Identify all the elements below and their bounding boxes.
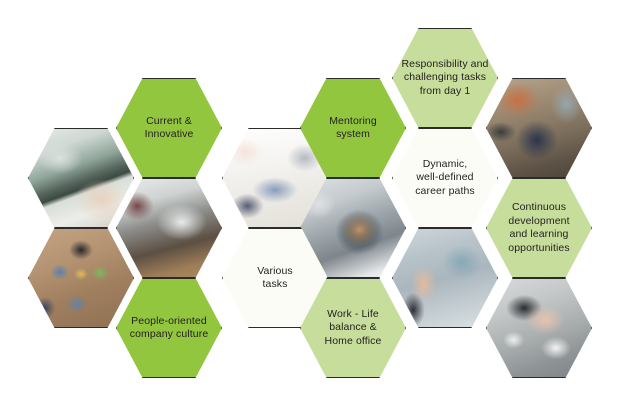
- photo-pointing-screen-image: [392, 228, 498, 328]
- photo-desk-flatlay-image: [28, 228, 134, 328]
- hex-label-work-life-balance: Work - Life balance & Home office: [316, 308, 391, 349]
- hex-cell-people-oriented-company-culture: People-oriented company culture: [116, 278, 222, 378]
- hex-label-current-innovative: Current & Innovative: [136, 115, 203, 142]
- hex-label-continuous-development: Continuous development and learning oppo…: [499, 201, 578, 255]
- hex-cell-photo-pointing-screen: [392, 228, 498, 328]
- hex-cell-photo-team-desk: [486, 78, 592, 178]
- hex-cell-photo-notebook-keyboard: [116, 178, 222, 278]
- hex-cell-dynamic-career-paths: Dynamic, well-defined career paths: [392, 128, 498, 228]
- hex-label-people-oriented-company-culture: People-oriented company culture: [121, 315, 218, 342]
- hex-label-various-tasks: Various tasks: [248, 265, 302, 292]
- photo-hands-laptop-image: [486, 278, 592, 378]
- hex-cell-current-innovative: Current & Innovative: [116, 78, 222, 178]
- photo-notebook-keyboard-image: [116, 178, 222, 278]
- hex-cell-responsibility-challenging-tasks: Responsibility and challenging tasks fro…: [392, 28, 498, 128]
- hex-label-mentoring-system: Mentoring system: [320, 115, 386, 142]
- photo-laptop-writing-image: [28, 128, 134, 228]
- hex-label-dynamic-career-paths: Dynamic, well-defined career paths: [406, 158, 484, 199]
- hex-cell-photo-laptop-writing: [28, 128, 134, 228]
- hex-cell-continuous-development: Continuous development and learning oppo…: [486, 178, 592, 278]
- photo-team-desk-image: [486, 78, 592, 178]
- honeycomb-graphic: Current & InnovativeMentoring systemResp…: [0, 0, 624, 400]
- hex-cell-photo-desk-flatlay: [28, 228, 134, 328]
- hex-cell-photo-hands-laptop: [486, 278, 592, 378]
- hex-label-responsibility-challenging-tasks: Responsibility and challenging tasks fro…: [392, 58, 497, 99]
